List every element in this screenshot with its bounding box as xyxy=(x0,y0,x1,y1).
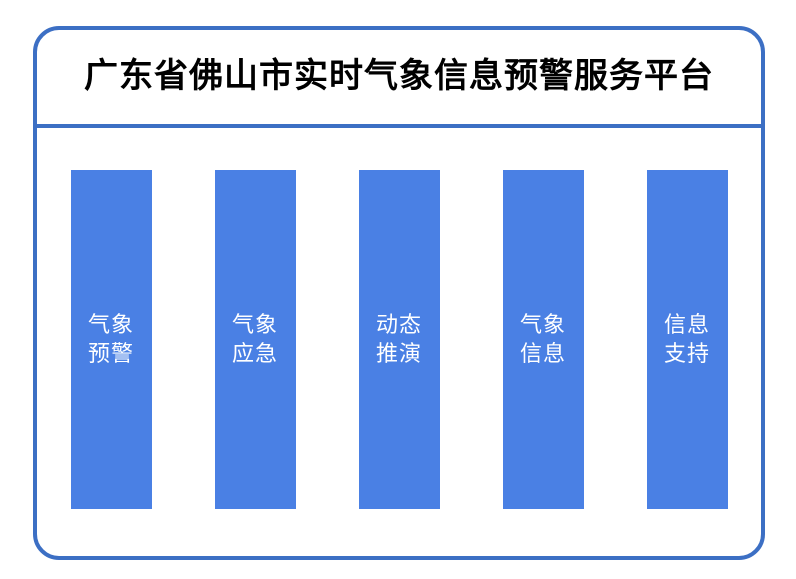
module-label-line1: 气象 xyxy=(232,310,278,339)
module-label-line2: 应急 xyxy=(232,339,278,368)
module-bar-weather-information[interactable]: 气象 信息 xyxy=(503,170,584,509)
module-columns: 气象 预警 气象 应急 动态 推演 气象 信息 信息 支持 xyxy=(37,128,761,556)
module-label-line2: 支持 xyxy=(664,339,710,368)
module-label-line2: 信息 xyxy=(520,339,566,368)
diagram-frame: 广东省佛山市实时气象信息预警服务平台 气象 预警 气象 应急 动态 推演 气象 xyxy=(33,26,765,560)
module-columns-inner: 气象 预警 气象 应急 动态 推演 气象 信息 信息 支持 xyxy=(71,170,728,509)
page-title: 广东省佛山市实时气象信息预警服务平台 xyxy=(84,58,714,95)
platform-diagram: 广东省佛山市实时气象信息预警服务平台 气象 预警 气象 应急 动态 推演 气象 xyxy=(0,0,796,579)
module-label-line1: 动态 xyxy=(376,310,422,339)
module-bar-dynamic-simulation[interactable]: 动态 推演 xyxy=(359,170,440,509)
module-bar-weather-warning[interactable]: 气象 预警 xyxy=(71,170,152,509)
title-band: 广东省佛山市实时气象信息预警服务平台 xyxy=(37,30,761,124)
module-label-line2: 预警 xyxy=(88,339,134,368)
module-label-line1: 信息 xyxy=(664,310,710,339)
module-bar-weather-emergency[interactable]: 气象 应急 xyxy=(215,170,296,509)
module-label-line1: 气象 xyxy=(520,310,566,339)
module-label-line2: 推演 xyxy=(376,339,422,368)
module-bar-information-support[interactable]: 信息 支持 xyxy=(647,170,728,509)
module-label-line1: 气象 xyxy=(88,310,134,339)
